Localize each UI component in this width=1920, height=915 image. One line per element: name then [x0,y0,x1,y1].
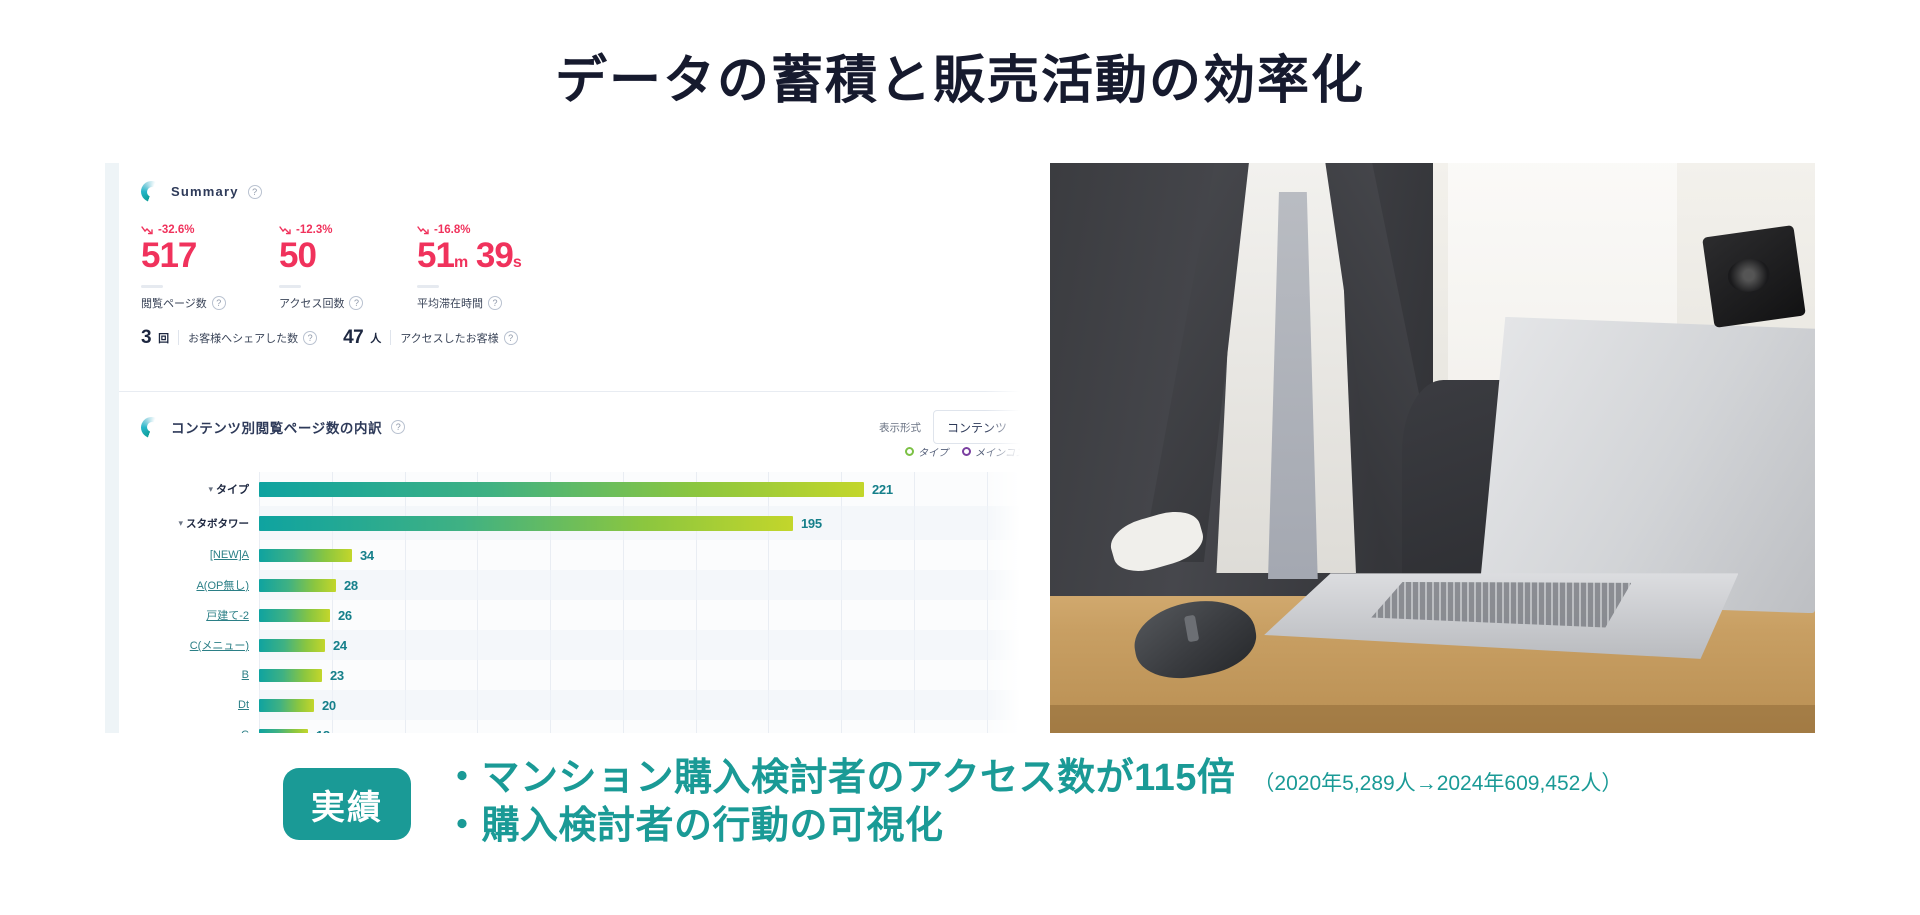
bar-row-label[interactable]: ▾ スタボタワー [119,516,259,531]
legend-label: タイプ [918,444,948,459]
dashboard-left-rail [105,163,119,733]
metric-list: -32.6% 517 閲覧ページ数 ? -12.3% [119,202,1025,311]
metric-seconds: 39 [476,236,513,275]
metric-delta: -16.8% [417,224,617,236]
sub-metric-number: 47 [343,327,363,349]
bar-value: 28 [344,578,358,593]
metric-value: 50 [279,238,417,275]
breakdown-card: コンテンツ別閲覧ページ数の内訳 ? 表示形式 コンテンツ タイプ [119,392,1025,733]
table-row[interactable]: C(メニュー) 24 [119,630,1025,660]
bar-group: 195 [259,516,822,531]
bar-value: 195 [801,516,822,531]
bar-row-label-text[interactable]: B [242,669,249,681]
achievement-line-1-note: （2020年5,289人→2024年609,452人） [1253,771,1622,797]
bar-row-label[interactable]: B [119,669,259,681]
bar-group: 26 [259,608,352,623]
bar-row-label[interactable]: C(メニュー) [119,637,259,653]
summary-card: Summary ? -32.6% 517 閲覧ページ数 ? [119,163,1025,391]
table-row[interactable]: 戸建て-2 26 [119,600,1025,630]
achievement-line-1: ・マンション購入検討者のアクセス数が115倍 （2020年5,289人→2024… [443,755,1622,803]
chevron-down-icon[interactable]: ▾ [178,518,183,529]
bar-value: 34 [360,548,374,563]
sub-metric-label-text: アクセスしたお客様 [400,330,498,346]
display-format-select[interactable]: コンテンツ [933,410,1025,444]
metric-avg-duration: -16.8% 51m 39s 平均滞在時間 ? [417,224,617,311]
legend-ring-icon [905,447,914,456]
table-row[interactable]: ▾ タイプ 221 [119,472,1025,506]
table-row[interactable]: ▾ スタボタワー 195 [119,506,1025,540]
chart-legend: タイプ メインコン [905,444,1025,459]
bar-row-label-text[interactable]: A(OP無し) [196,577,249,593]
metric-label-text: 閲覧ページ数 [141,295,207,311]
display-format-control: 表示形式 コンテンツ [879,410,1025,444]
metric-label: アクセス回数 ? [279,295,417,311]
help-icon[interactable]: ? [212,296,226,310]
metric-minutes-unit: m [454,254,467,271]
achievement-badge: 実績 [283,768,411,840]
metric-rule [417,285,439,288]
bar-row-list: ▾ タイプ 221 ▾ スタボタワ [119,472,1025,733]
bar-value: 24 [333,638,347,653]
bar [259,639,325,652]
metric-value: 51m 39s [417,238,617,275]
bar-row-label[interactable]: 戸建て-2 [119,607,259,623]
metric-label: 閲覧ページ数 ? [141,295,279,311]
bar-row-label-text[interactable]: [NEW]A [210,549,249,561]
metric-label-text: アクセス回数 [279,295,344,311]
divider [390,330,391,345]
metric-label: 平均滞在時間 ? [417,295,617,311]
achievement-section: 実績 ・マンション購入検討者のアクセス数が115倍 （2020年5,289人→2… [0,755,1920,885]
bar [259,482,864,497]
bar-group: 20 [259,698,336,713]
bar-value: 26 [338,608,352,623]
bar-group: 34 [259,548,374,563]
bar-row-label[interactable]: [NEW]A [119,549,259,561]
legend-item-main-content[interactable]: メインコン [962,444,1025,459]
bar [259,669,322,682]
sub-metric-shares: 3 回 お客様へシェアした数 ? [141,327,317,349]
sub-metric-unit: 回 [158,330,169,346]
bar [259,579,336,592]
bar-row-label[interactable]: Dt [119,699,259,711]
bar-value: 20 [322,698,336,713]
help-icon[interactable]: ? [488,296,502,310]
legend-label: メインコン [975,444,1025,459]
dashboard-body: Summary ? -32.6% 517 閲覧ページ数 ? [119,163,1025,733]
achievement-line-2: ・購入検討者の行動の可視化 [443,803,1622,851]
row-background [259,720,1025,733]
sub-metric-label-text: お客様へシェアした数 [188,330,298,346]
help-icon[interactable]: ? [303,331,317,345]
bar-group: 24 [259,638,347,653]
row-background [259,660,1025,690]
bar-value: 23 [330,668,344,683]
bar-row-label-text: タイプ [216,481,249,497]
breakdown-heading: コンテンツ別閲覧ページ数の内訳 [171,417,382,437]
bar [259,699,314,712]
metric-delta: -32.6% [141,224,279,236]
table-row[interactable]: Dt 20 [119,690,1025,720]
metric-delta-value: -32.6% [158,224,194,236]
bar-row-label[interactable]: A(OP無し) [119,577,259,593]
trend-down-icon [417,225,430,235]
summary-heading: Summary [171,184,239,199]
bar [259,516,793,531]
summary-header: Summary ? [119,163,1025,202]
bar-row-label-text: スタボタワー [186,516,249,531]
metric-minutes: 51 [417,236,454,275]
help-icon[interactable]: ? [391,420,405,434]
table-row[interactable]: [NEW]A 34 [119,540,1025,570]
bar-group: 18 [259,728,330,734]
row-background [259,600,1025,630]
photo-webcam [1702,225,1806,328]
photo-laptop-lid [1478,317,1815,613]
row-background [259,630,1025,660]
slide-root: データの蓄積と販売活動の効率化 Summary ? -32.6% [0,0,1920,915]
help-icon[interactable]: ? [504,331,518,345]
metric-delta-value: -12.3% [296,224,332,236]
bar-value: 221 [872,482,893,497]
metric-label-text: 平均滞在時間 [417,295,483,311]
bar-group: 23 [259,668,344,683]
brand-donut-icon [141,417,162,438]
table-row[interactable]: B 23 [119,660,1025,690]
trend-down-icon [141,225,154,235]
metric-visits: -12.3% 50 アクセス回数 ? [279,224,417,311]
sub-metric-customers: 47 人 アクセスしたお客様 ? [343,327,518,349]
metric-seconds-unit: s [513,254,521,271]
display-format-label: 表示形式 [879,420,921,435]
bar-chart-plot: ▾ タイプ 221 ▾ スタボタワ [119,472,1025,733]
row-background [259,690,1025,720]
sub-metric-list: 3 回 お客様へシェアした数 ? 47 人 アクセスしたお客様 [119,311,1025,349]
divider [178,330,179,345]
dashboard-screenshot: Summary ? -32.6% 517 閲覧ページ数 ? [105,163,1025,733]
bar-row-label-text[interactable]: C [241,729,249,733]
trend-down-icon [279,225,292,235]
achievement-bullets: ・マンション購入検討者のアクセス数が115倍 （2020年5,289人→2024… [443,755,1622,850]
page-title: データの蓄積と販売活動の効率化 [0,38,1920,113]
photo-desk-edge [1050,705,1815,734]
achievement-line-2-text: ・購入検討者の行動の可視化 [443,803,944,851]
chevron-down-icon[interactable]: ▾ [208,484,213,495]
bar [259,549,352,562]
legend-item-type[interactable]: タイプ [905,444,948,459]
bar-row-label-text[interactable]: 戸建て-2 [206,607,249,623]
help-icon[interactable]: ? [248,185,262,199]
bar-group: 28 [259,578,358,593]
sub-metric-number: 3 [141,327,151,349]
table-row[interactable]: C 18 [119,720,1025,733]
bar-row-label-text[interactable]: Dt [238,699,249,711]
brand-donut-icon [141,181,162,202]
legend-ring-icon [962,447,971,456]
breakdown-title-group: コンテンツ別閲覧ページ数の内訳 ? [141,417,405,438]
metric-rule [279,285,301,288]
metric-value: 517 [141,238,279,275]
help-icon[interactable]: ? [349,296,363,310]
bar-row-label-text[interactable]: C(メニュー) [190,637,249,653]
metric-rule [141,285,163,288]
bar [259,729,308,734]
sub-metric-label: お客様へシェアした数 ? [188,330,317,346]
bar-row-label[interactable]: C [119,729,259,733]
table-row[interactable]: A(OP無し) 28 [119,570,1025,600]
bar-value: 18 [316,728,330,734]
row-background [259,570,1025,600]
metric-delta: -12.3% [279,224,417,236]
breakdown-header: コンテンツ別閲覧ページ数の内訳 ? 表示形式 コンテンツ [119,392,1025,444]
metric-pageviews: -32.6% 517 閲覧ページ数 ? [141,224,279,311]
photo-businessman-laptop [1050,163,1815,733]
bar-row-label[interactable]: ▾ タイプ [119,481,259,497]
metric-delta-value: -16.8% [434,224,470,236]
bar-group: 221 [259,482,893,497]
sub-metric-unit: 人 [370,330,381,346]
achievement-line-1-text: ・マンション購入検討者のアクセス数が115倍 [443,755,1235,803]
sub-metric-label: アクセスしたお客様 ? [400,330,517,346]
bar [259,609,330,622]
